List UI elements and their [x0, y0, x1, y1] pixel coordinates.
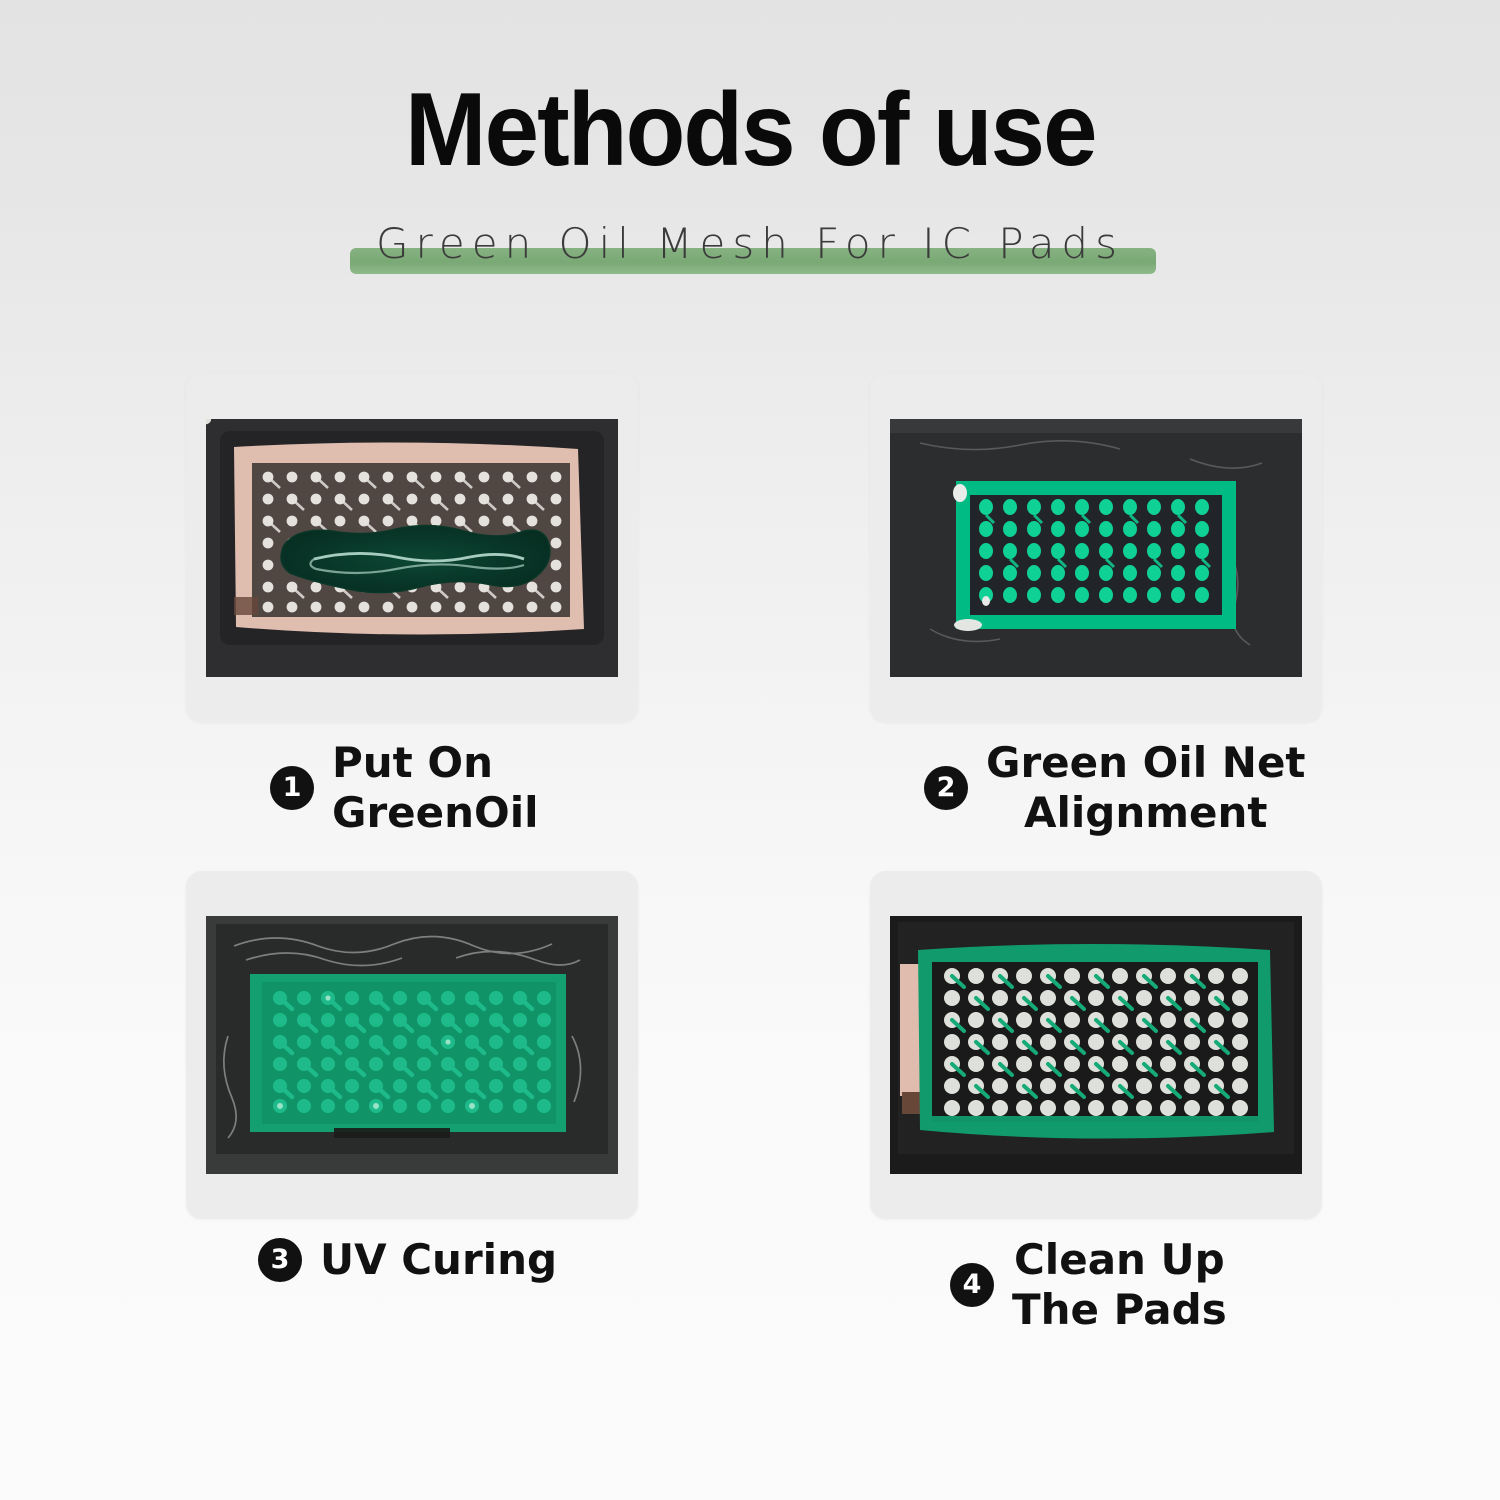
page-subtitle: Green Oil Mesh For IC Pads [0, 218, 1500, 270]
step-card-2[interactable]: 2 Green Oil Net Alignment [870, 374, 1376, 838]
step-2-image-card [870, 374, 1322, 722]
step-4-badge: 4 [950, 1263, 994, 1307]
page-title: Methods of use [405, 78, 1096, 182]
step-3-image-card [186, 871, 638, 1219]
step-4-caption: 4 Clean Up The Pads [870, 1235, 1402, 1335]
page-header: Methods of use Green Oil Mesh For IC Pad… [0, 0, 1500, 300]
step-1-badge: 1 [270, 766, 314, 810]
step-4-label: Clean Up The Pads [1012, 1235, 1227, 1335]
step-1-label: Put On GreenOil [332, 738, 539, 838]
step-2-badge: 2 [924, 766, 968, 810]
step-1-caption: 1 Put On GreenOil [186, 738, 722, 838]
step-card-4[interactable]: 4 Clean Up The Pads [870, 871, 1402, 1335]
step-card-1[interactable]: 1 Put On GreenOil [186, 374, 722, 838]
step-3-badge: 3 [258, 1238, 302, 1282]
step-1-photo [206, 419, 618, 677]
step-card-3[interactable]: 3 UV Curing [186, 871, 710, 1285]
step-2-label: Green Oil Net Alignment [986, 738, 1306, 838]
step-3-photo [206, 916, 618, 1174]
step-3-caption: 3 UV Curing [186, 1235, 710, 1285]
step-2-photo [890, 419, 1302, 677]
step-3-label: UV Curing [320, 1235, 557, 1285]
step-4-image-card [870, 871, 1322, 1219]
page-title-wrap: Methods of use [0, 78, 1500, 182]
step-1-image-card [186, 374, 638, 722]
step-2-caption: 2 Green Oil Net Alignment [870, 738, 1376, 838]
step-4-photo [890, 916, 1302, 1174]
